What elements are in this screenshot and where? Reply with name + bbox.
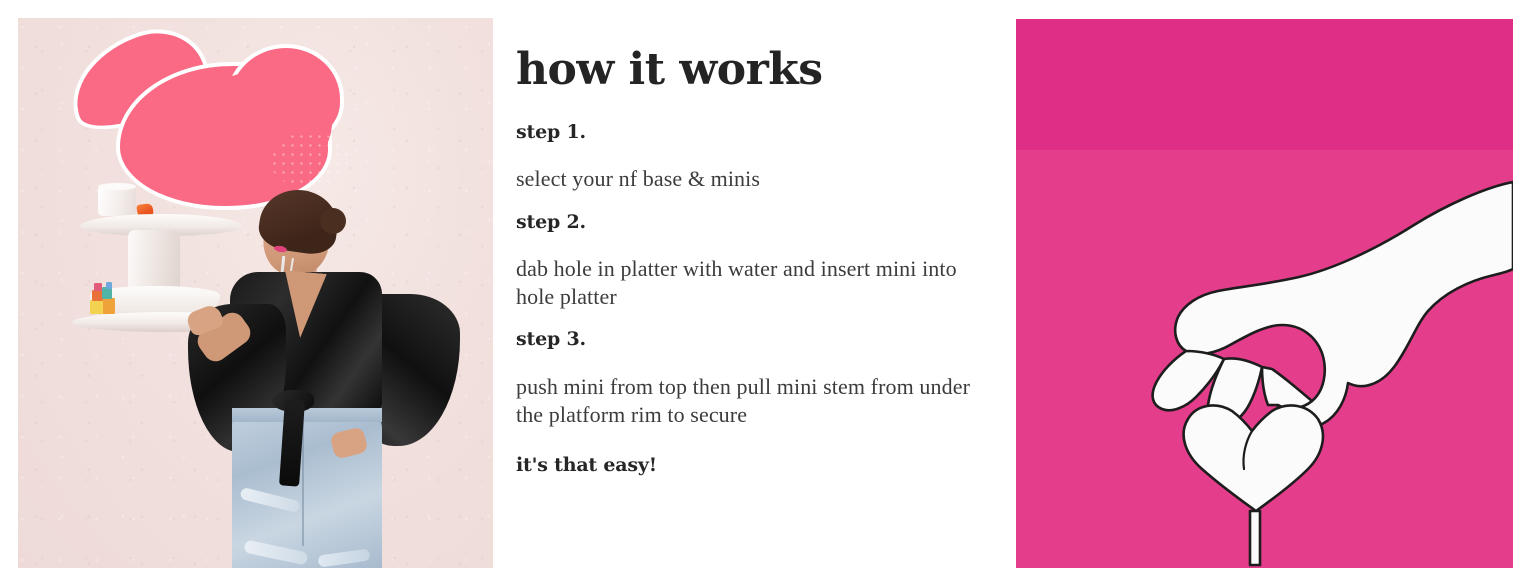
mini-box-pink	[94, 283, 102, 291]
step-2-label: step 2.	[516, 208, 986, 237]
hand-heart-svg	[1016, 19, 1513, 568]
model-figure	[136, 194, 476, 568]
model-jeans-waistband	[232, 408, 382, 422]
step-3-text: push mini from top then pull mini stem f…	[516, 373, 986, 429]
step-3-label: step 3.	[516, 325, 986, 354]
step-item-3: step 3. push mini from top then pull min…	[516, 325, 986, 429]
ring-finger-path	[1262, 367, 1312, 408]
hand-heart-illustration	[1016, 19, 1513, 568]
platter-top-cup	[98, 186, 136, 216]
closing-line: it's that easy!	[516, 451, 986, 480]
page-title: how it works	[516, 48, 823, 92]
step-1-label: step 1.	[516, 118, 986, 147]
mini-gift-box-stack	[88, 282, 116, 316]
steps-list: step 1. select your nf base & minis step…	[516, 118, 986, 481]
mini-box-orange	[103, 298, 115, 314]
bird-dot-texture	[270, 132, 348, 188]
mini-box-blue	[106, 282, 112, 289]
step-2-text: dab hole in platter with water and inser…	[516, 255, 986, 311]
heart-shape-path	[1184, 405, 1323, 511]
heart-pick-stem-path	[1250, 511, 1260, 565]
instructions-column: how it works step 1. select your nf base…	[516, 0, 986, 587]
model-hair-bun	[320, 208, 346, 234]
step-item-1: step 1. select your nf base & minis	[516, 118, 986, 194]
step-1-text: select your nf base & minis	[516, 165, 986, 193]
lifestyle-photo	[18, 18, 493, 568]
step-item-2: step 2. dab hole in platter with water a…	[516, 208, 986, 312]
how-it-works-section: how it works step 1. select your nf base…	[0, 0, 1513, 587]
hand-line-art	[1016, 19, 1513, 568]
